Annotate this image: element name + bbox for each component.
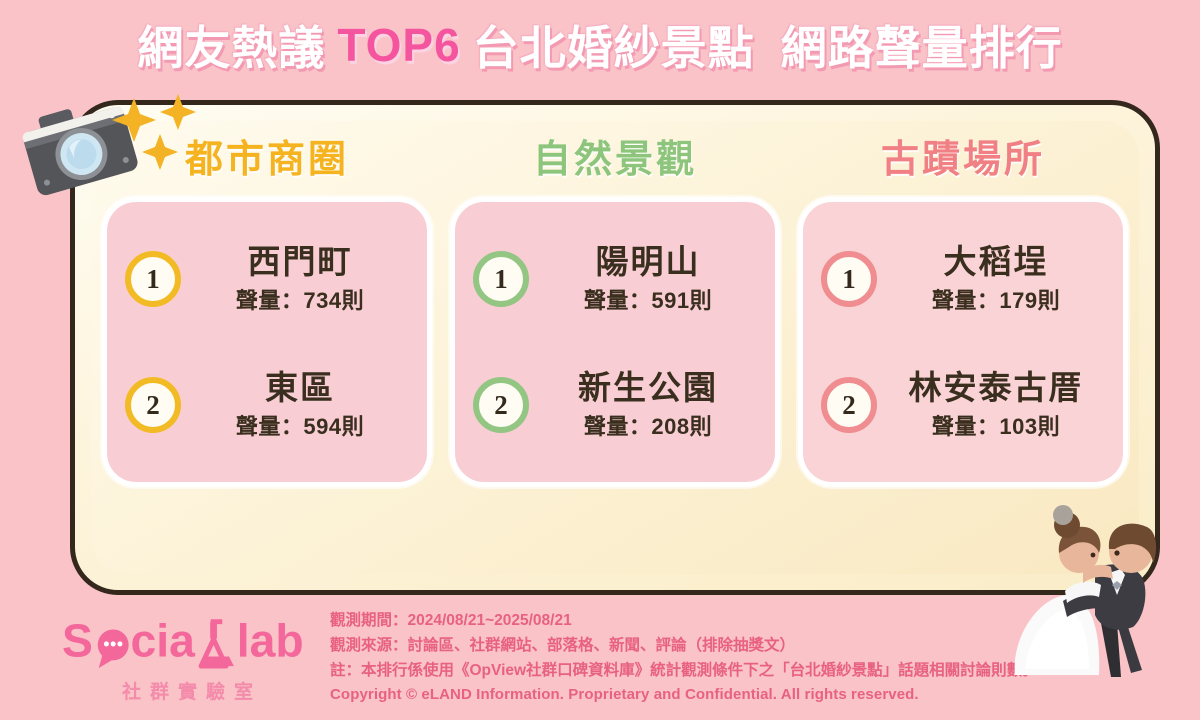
page-title: 網友熱議 TOP6 台北婚紗景點 網路聲量排行 bbox=[0, 10, 1200, 80]
entry-volume: 聲量：591則 bbox=[584, 283, 712, 315]
entry-text: 東區 聲量：594則 bbox=[191, 369, 409, 442]
entry-text: 陽明山 聲量：591則 bbox=[539, 243, 757, 316]
list-item[interactable]: 2 林安泰古厝 聲量：103則 bbox=[815, 369, 1111, 442]
title-part-1: 網友熱議 bbox=[137, 12, 325, 78]
entry-volume: 聲量：208則 bbox=[584, 409, 712, 441]
entry-text: 西門町 聲量：734則 bbox=[191, 243, 409, 316]
logo-text-cia: cia bbox=[131, 614, 197, 666]
list-item[interactable]: 1 大稻埕 聲量：179則 bbox=[815, 243, 1111, 316]
logo-wordmark: S cia lab bbox=[62, 614, 305, 670]
footnote-period: 觀測期間：2024/08/21~2025/08/21 bbox=[330, 608, 1120, 633]
logo-subtitle: 社群實驗室 bbox=[62, 677, 314, 704]
title-part-2: 台北婚紗景點 bbox=[473, 12, 755, 78]
list-item[interactable]: 1 陽明山 聲量：591則 bbox=[467, 243, 763, 316]
ranking-columns: 都市商圈 1 西門町 聲量：734則 2 東區 聲量：594則 自然景觀 1 bbox=[70, 100, 1160, 595]
entry-volume: 聲量：734則 bbox=[236, 283, 364, 315]
logo-text-lab: lab bbox=[237, 614, 304, 666]
footnote-copyright: Copyright © eLAND Information. Proprieta… bbox=[330, 683, 1120, 707]
list-item[interactable]: 2 東區 聲量：594則 bbox=[119, 369, 415, 442]
wedding-couple-icon bbox=[1005, 497, 1190, 682]
chat-bubble-icon bbox=[98, 629, 129, 668]
entry-text: 新生公園 聲量：208則 bbox=[539, 369, 757, 442]
rank-badge: 2 bbox=[821, 377, 877, 433]
list-item[interactable]: 1 西門町 聲量：734則 bbox=[119, 243, 415, 316]
entry-volume: 聲量：594則 bbox=[236, 409, 364, 441]
list-item[interactable]: 2 新生公園 聲量：208則 bbox=[467, 369, 763, 442]
entry-volume: 聲量：179則 bbox=[932, 283, 1060, 315]
rank-badge: 2 bbox=[125, 377, 181, 433]
column-heading-nature: 自然景觀 bbox=[533, 128, 697, 183]
ranking-card-nature: 1 陽明山 聲量：591則 2 新生公園 聲量：208則 bbox=[450, 197, 780, 487]
entry-name: 西門町 bbox=[248, 243, 353, 281]
entry-name: 林安泰古厝 bbox=[909, 369, 1084, 407]
entry-text: 林安泰古厝 聲量：103則 bbox=[887, 369, 1105, 442]
ranking-card-urban: 1 西門町 聲量：734則 2 東區 聲量：594則 bbox=[102, 197, 432, 487]
rank-badge: 2 bbox=[473, 377, 529, 433]
camera-icon bbox=[8, 78, 198, 203]
entry-text: 大稻埕 聲量：179則 bbox=[887, 243, 1105, 316]
footnote-source: 觀測來源：討論區、社群網站、部落格、新聞、評論（排除抽獎文） bbox=[330, 633, 1120, 658]
column-heading-heritage: 古蹟場所 bbox=[881, 128, 1045, 183]
rank-badge: 1 bbox=[125, 251, 181, 307]
footnote-note: 註：本排行係使用《OpView社群口碑資料庫》統計觀測條件下之「台北婚紗景點」話… bbox=[330, 658, 1120, 683]
entry-volume: 聲量：103則 bbox=[932, 409, 1060, 441]
logo-text-s: S bbox=[62, 614, 93, 666]
column-heading-urban: 都市商圈 bbox=[185, 128, 349, 183]
entry-name: 陽明山 bbox=[596, 243, 701, 281]
entry-name: 東區 bbox=[265, 369, 335, 407]
ranking-card-heritage: 1 大稻埕 聲量：179則 2 林安泰古厝 聲量：103則 bbox=[798, 197, 1128, 487]
entry-name: 大稻埕 bbox=[944, 243, 1049, 281]
sociallab-logo: S cia lab 社群實驗室 bbox=[62, 614, 314, 706]
entry-name: 新生公園 bbox=[578, 369, 718, 407]
ranking-column-nature: 自然景觀 1 陽明山 聲量：591則 2 新生公園 聲量：208則 bbox=[448, 128, 782, 565]
rank-badge: 1 bbox=[821, 251, 877, 307]
title-part-3: 網路聲量排行 bbox=[781, 12, 1063, 78]
title-highlight: TOP6 bbox=[337, 18, 460, 72]
footnotes: 觀測期間：2024/08/21~2025/08/21 觀測來源：討論區、社群網站… bbox=[330, 608, 1120, 708]
rank-badge: 1 bbox=[473, 251, 529, 307]
